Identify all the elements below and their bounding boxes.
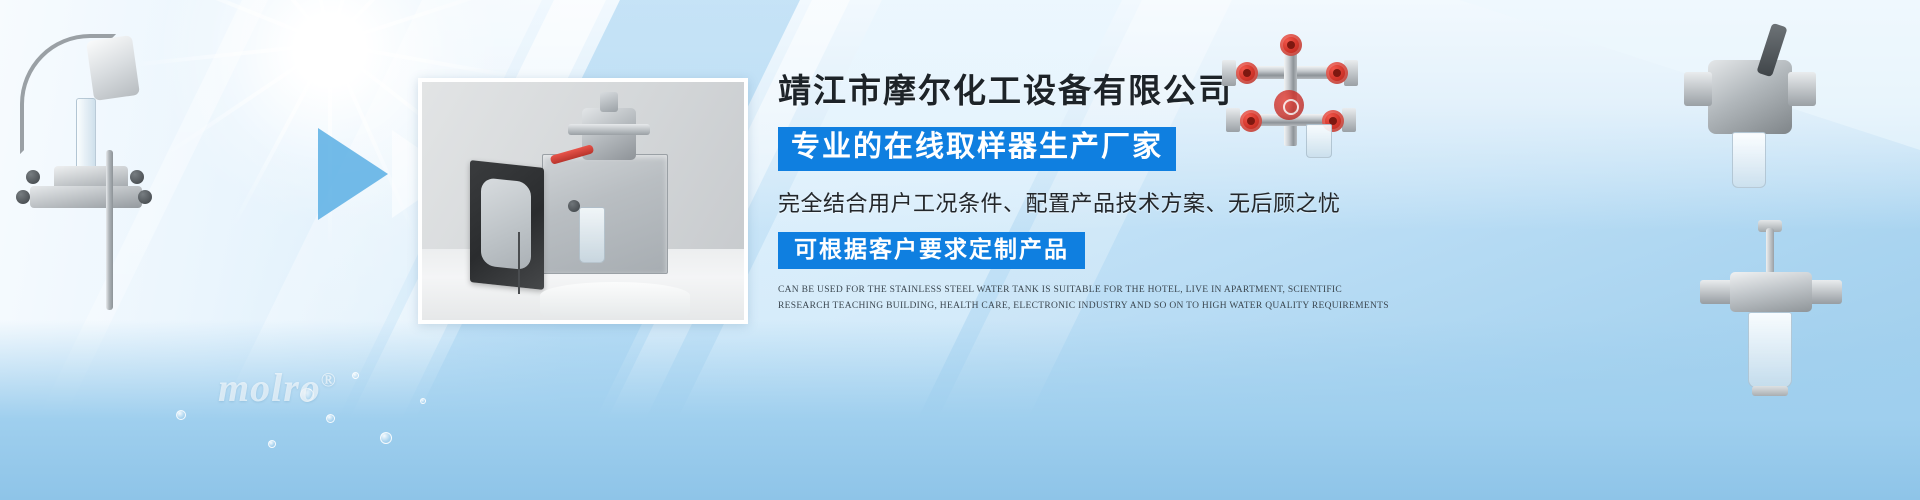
certification-seal-icon	[1274, 90, 1304, 120]
headline-highlight: 专业的在线取样器生产厂家	[778, 127, 1176, 171]
rig-sight-glass	[76, 98, 96, 176]
rig-knob	[16, 190, 30, 204]
sun-ray-icon	[327, 41, 416, 234]
product-photo-image	[422, 82, 744, 320]
customization-text: 可根据客户要求定制产品	[794, 237, 1069, 262]
product-photo	[418, 78, 748, 324]
red-handwheel-icon	[1240, 110, 1262, 132]
sampler-glass-vessel	[1748, 312, 1792, 388]
headline-text: 专业的在线取样器生产厂家	[791, 132, 1163, 164]
photo-cabinet-door	[470, 160, 544, 290]
sun-ray-icon	[328, 0, 390, 46]
sun-ray-icon	[231, 41, 333, 228]
valve-sight-glass	[1732, 132, 1766, 188]
sampler-base	[1752, 386, 1788, 396]
watermark-logo-text: molro	[218, 365, 321, 410]
valve-flange	[1788, 72, 1816, 106]
red-handwheel-icon	[1236, 62, 1258, 84]
subheadline-text: 完全结合用户工况条件、配置产品技术方案、无后顾之忧	[778, 186, 1398, 218]
lever-valve-illustration	[1680, 28, 1820, 198]
red-handwheel-icon	[1280, 34, 1302, 56]
photo-door-window	[481, 177, 531, 270]
water-bubble-icon	[176, 410, 186, 420]
sampler-flange-left	[1700, 280, 1734, 304]
sampler-body	[1730, 272, 1812, 312]
registered-mark-icon: ®	[321, 370, 337, 392]
water-bubble-icon	[420, 398, 426, 404]
photo-cable	[518, 232, 520, 294]
water-bubble-icon	[268, 440, 276, 448]
sampler-valve-illustration	[1700, 228, 1840, 418]
rig-knob	[26, 170, 40, 184]
sampler-rig-illustration	[10, 20, 170, 320]
water-bubble-icon	[352, 372, 359, 379]
water-bubble-icon	[380, 432, 392, 444]
photo-sampler-cabinet	[542, 154, 668, 274]
valve-flange	[1226, 108, 1240, 132]
sampler-stem	[1766, 228, 1774, 274]
photo-sample-bottle	[579, 207, 605, 263]
english-description: CAN BE USED FOR THE STAINLESS STEEL WATE…	[778, 283, 1392, 314]
cross-valve-illustration	[1222, 40, 1362, 152]
chevron-accent-icon	[318, 128, 388, 220]
sun-ray-icon	[327, 0, 528, 47]
rig-canister	[86, 35, 140, 101]
water-bubble-icon	[326, 414, 335, 423]
sampler-flange-right	[1808, 280, 1842, 304]
valve-flange	[1222, 60, 1236, 86]
customization-highlight: 可根据客户要求定制产品	[778, 232, 1085, 269]
sun-ray-icon	[156, 41, 332, 162]
sun-ray-icon	[328, 42, 332, 252]
rig-knob	[138, 190, 152, 204]
photo-control-knob	[568, 200, 580, 212]
sun-ray-icon	[328, 42, 536, 82]
valve-sight-glass	[1306, 124, 1332, 158]
rig-support-pole	[106, 150, 113, 310]
sun-ray-icon	[285, 0, 333, 46]
valve-flange	[1684, 72, 1712, 106]
rig-knob	[130, 170, 144, 184]
sun-ray-icon	[195, 0, 333, 47]
red-handwheel-icon	[1326, 62, 1348, 84]
rig-valve-lower	[30, 186, 142, 208]
promotional-banner: 靖江市摩尔化工设备有限公司 专业的在线取样器生产厂家 完全结合用户工况条件、配置…	[0, 0, 1920, 500]
watermark-logo: molro®	[218, 364, 337, 411]
valve-body	[1708, 60, 1792, 134]
valve-flange	[1342, 108, 1356, 132]
sun-ray-icon	[327, 0, 476, 47]
photo-pedestal	[540, 282, 690, 316]
